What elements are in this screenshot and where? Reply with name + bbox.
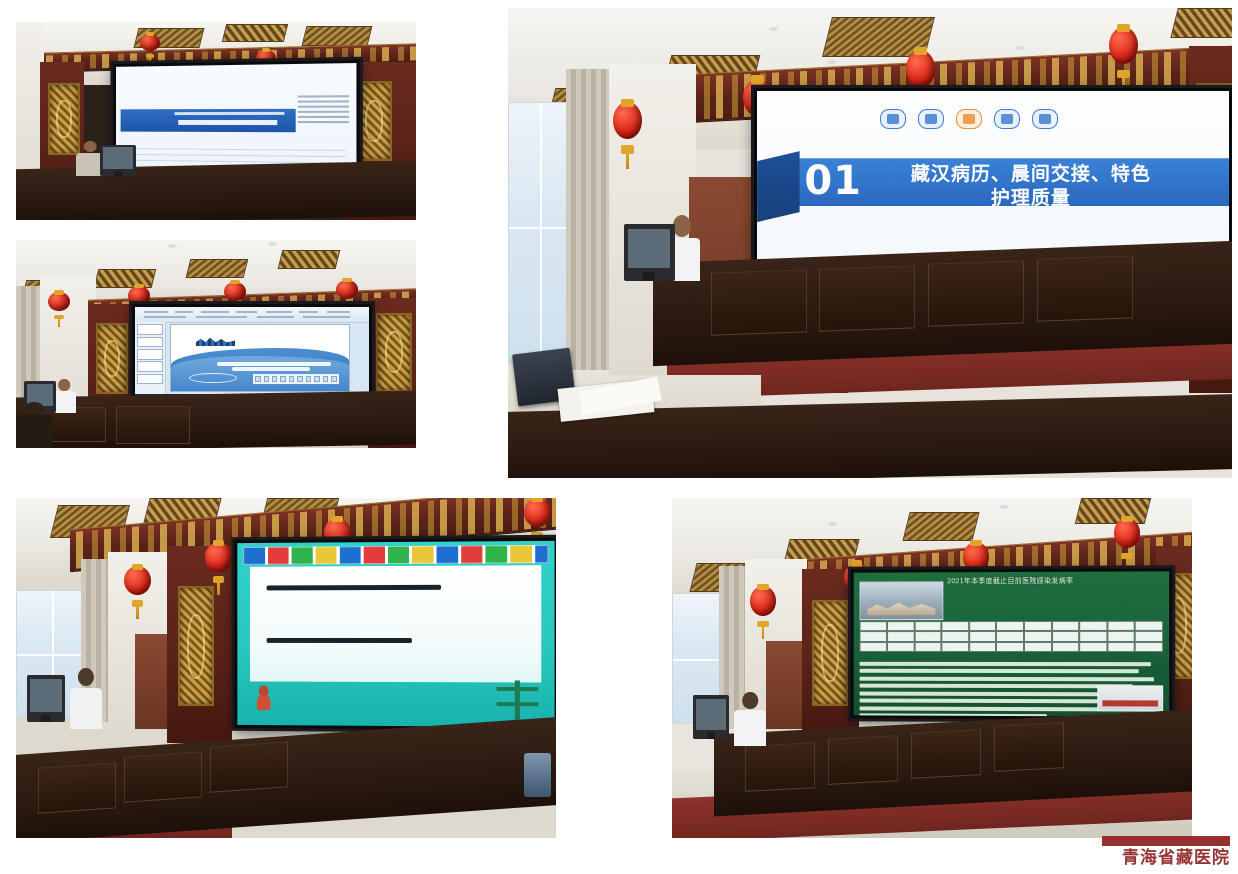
lantern: [140, 34, 160, 58]
slide-tibetan-line-1: [267, 584, 441, 590]
table-cell: [1107, 621, 1135, 632]
slide-data-table: [860, 621, 1163, 653]
led-screen: [116, 63, 356, 176]
lantern: [613, 102, 642, 154]
room-scene: 2021年本季度截止目前医院感染发病率: [672, 498, 1192, 838]
table-cell: [941, 621, 968, 632]
water-dispenser: [524, 753, 551, 797]
table-cell: [1024, 642, 1052, 653]
dais-panel: [38, 762, 116, 814]
table-cell: [914, 642, 941, 652]
led-screen: [237, 541, 554, 728]
downlight: [1015, 46, 1024, 50]
slide-body-panel: [250, 565, 542, 683]
dais-panel: [1037, 255, 1133, 321]
lantern: [48, 292, 70, 319]
dais-panel: [928, 260, 1024, 326]
slide-subtitle-text: [232, 367, 310, 371]
gold-plaque: [376, 313, 412, 392]
ceiling-panel: [222, 24, 288, 42]
monitor: [693, 695, 729, 739]
table-cell: [969, 642, 996, 653]
table-cell: [860, 621, 887, 631]
table-cell: [1024, 621, 1052, 632]
ceiling-panel: [186, 259, 249, 278]
person-standing: [70, 668, 102, 729]
table-cell: [914, 632, 941, 642]
slide-tibetan-line-2: [267, 638, 412, 643]
slide-headline-line2: 护理质量: [991, 188, 1071, 209]
downlight: [828, 522, 837, 526]
slide-tibetan-teal: [237, 541, 554, 728]
table-cell: [969, 621, 996, 632]
dais-panel: [911, 729, 981, 779]
gold-plaque: [178, 586, 214, 706]
photo-bottom-right: 2021年本季度截止目前医院感染发病率: [672, 498, 1192, 838]
ppt-slide-thumbnails[interactable]: [135, 322, 166, 393]
gold-plaque: [96, 323, 128, 394]
dais-panel: [210, 742, 288, 794]
slide-building-photo: [860, 581, 943, 620]
watermark-text: 青海省藏医院: [1122, 843, 1230, 868]
led-wall: 2021年本季度截止目前医院感染发病率: [851, 569, 1173, 720]
slide-ppt-editor: [135, 307, 369, 401]
dais-panel: [994, 722, 1064, 772]
table-cell: [996, 632, 1024, 643]
gold-plaque: [812, 600, 847, 706]
slide-section-divider: 01 藏汉病历、晨间交接、特色 护理质量: [757, 91, 1229, 268]
table-cell: [1107, 642, 1135, 653]
room-scene: [16, 22, 416, 220]
monitor: [27, 675, 65, 723]
slide-banner: [120, 108, 295, 132]
slide-headline-line1: 藏汉病历、晨间交接、特色: [911, 164, 1151, 185]
downlight: [1000, 505, 1009, 509]
table-cell: [1107, 632, 1135, 643]
slide-green-stats: 2021年本季度截止目前医院感染发病率: [853, 572, 1169, 717]
table-cell: [914, 621, 941, 631]
person-seated: [734, 692, 765, 746]
table-cell: [860, 632, 887, 642]
led-screen: 2021年本季度截止目前医院感染发病率: [853, 572, 1169, 717]
downlight: [827, 60, 836, 64]
slide-credit-image: [1097, 685, 1163, 712]
lantern: [1114, 518, 1140, 559]
table-cell: [1135, 632, 1163, 643]
ceiling-panel: [1170, 8, 1232, 38]
table-cell: [941, 642, 968, 653]
table-cell: [1051, 632, 1079, 643]
slide-title-text: [217, 362, 331, 366]
monitor: [624, 224, 675, 280]
gold-plaque: [356, 81, 392, 160]
slide-decorative-border: [244, 544, 549, 564]
document-icon: [994, 109, 1020, 129]
grid-icon: [1032, 109, 1058, 129]
dais-panel: [819, 265, 915, 331]
lantern: [336, 280, 358, 307]
dais-panel: [745, 742, 815, 792]
monitor: [100, 145, 136, 177]
photo-bottom-left: [16, 498, 556, 838]
slide-side-block: [298, 92, 349, 126]
clock-icon: [918, 109, 944, 129]
dais-panel: [124, 752, 202, 804]
led-screen: [135, 307, 369, 401]
slide-icon-row: [880, 109, 1058, 129]
slide-oval-shape: [189, 373, 237, 384]
dais-panel: [828, 736, 898, 786]
photo-left-second: [16, 240, 416, 448]
led-wall: [234, 538, 556, 731]
ceiling-panel: [302, 26, 373, 46]
slide-headline: 藏汉病历、晨间交接、特色 护理质量: [852, 163, 1211, 212]
led-screen: 01 藏汉病历、晨间交接、特色 护理质量: [757, 91, 1229, 268]
photo-right-large: 01 藏汉病历、晨间交接、特色 护理质量: [508, 8, 1232, 478]
room-scene: [16, 498, 556, 838]
table-cell: [860, 642, 887, 652]
person-foreground: [16, 402, 52, 448]
dais-panel: [116, 406, 190, 443]
dais-panel: [711, 270, 807, 336]
ceiling-panel: [902, 512, 979, 541]
table-cell: [1079, 632, 1107, 643]
slide-title: 2021年本季度截止目前医院感染发病率: [947, 578, 1157, 588]
photo-top-left: [16, 22, 416, 220]
table-cell: [1135, 621, 1163, 632]
table-cell: [1079, 621, 1107, 632]
ppt-canvas[interactable]: [170, 324, 350, 392]
table-cell: [1079, 642, 1107, 653]
ceiling-panel: [278, 250, 341, 269]
slide-ribbon-tab: [757, 151, 799, 222]
table-cell: [1051, 621, 1079, 632]
led-wall: [113, 59, 359, 178]
table-cell: [996, 621, 1024, 632]
search-icon: [956, 109, 982, 129]
downlight: [769, 27, 778, 31]
table-cell: [887, 642, 914, 652]
led-wall: [132, 304, 372, 404]
table-cell: [1024, 632, 1052, 643]
photo-collage: 01 藏汉病历、晨间交接、特色 护理质量: [0, 0, 1238, 874]
slide-ribbon: 01 藏汉病历、晨间交接、特色 护理质量: [757, 151, 1229, 222]
table-cell: [941, 632, 968, 643]
table-cell: [1051, 642, 1079, 653]
table-cell: [996, 642, 1024, 653]
table-cell: [1135, 642, 1163, 653]
room-scene: 01 藏汉病历、晨间交接、特色 护理质量: [508, 8, 1232, 478]
slide-emblem: [496, 680, 538, 721]
chart-icon: [880, 109, 906, 129]
table-cell: [887, 632, 914, 642]
lantern: [524, 498, 551, 539]
slide-blue-banner: [116, 63, 356, 176]
ppt-ribbon[interactable]: [135, 307, 369, 323]
table-cell: [969, 632, 996, 643]
slide-skyline-graphic: [196, 336, 235, 346]
lantern: [750, 586, 776, 627]
lantern: [1109, 27, 1138, 79]
room-scene: [16, 240, 416, 448]
slide-chinese-line: [178, 119, 277, 124]
slide-tag-row: [253, 374, 339, 384]
slide-tibetan-line: [175, 111, 285, 114]
lantern: [124, 566, 151, 607]
table-cell: [887, 621, 914, 631]
slide-figure-icon: [256, 685, 272, 714]
lantern: [205, 542, 232, 583]
